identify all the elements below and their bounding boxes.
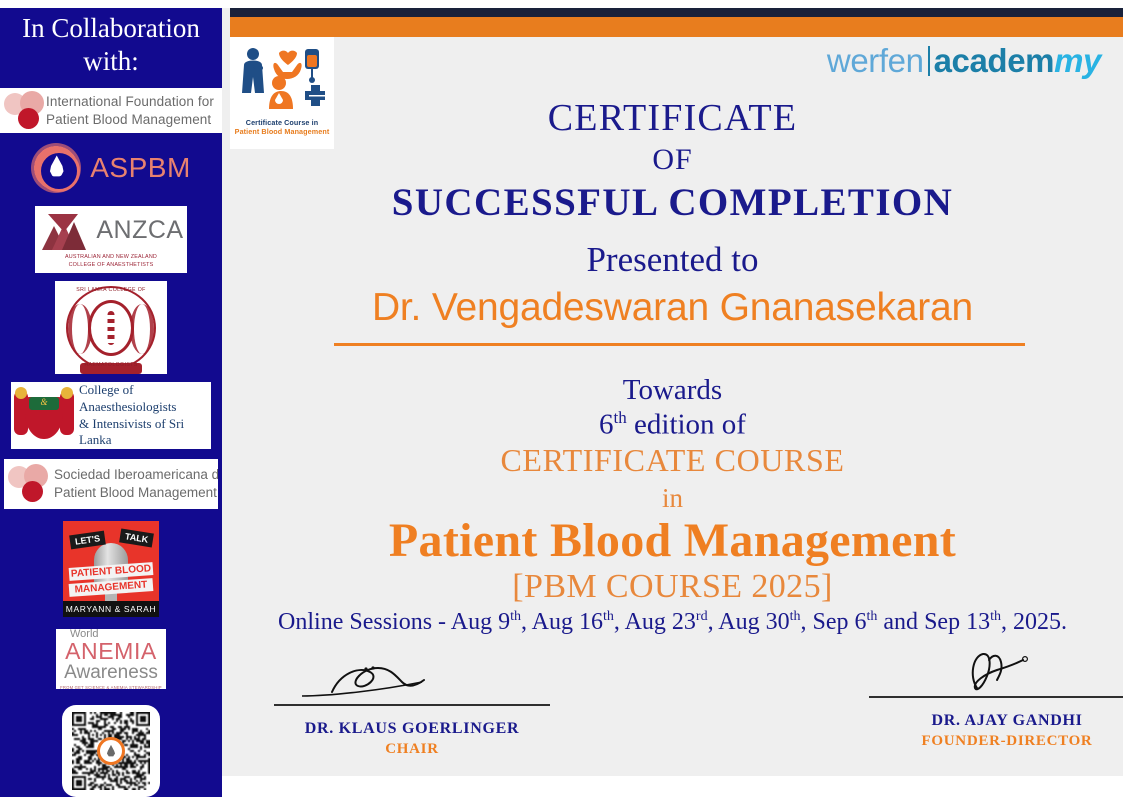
session-date: Sep 6th: [813, 609, 878, 635]
session-date: Aug 9th: [451, 609, 521, 635]
signature-rule: [869, 696, 1123, 698]
edition-number: 6: [599, 409, 614, 441]
edition-rest: edition of: [627, 409, 746, 441]
logo-sociedad-iberoamericana-pbm: Sociedad Iberoamericana de Patient Blood…: [4, 459, 218, 508]
collaboration-heading: In Collaboration with:: [6, 12, 216, 78]
sipbm-dots-icon: [8, 464, 50, 504]
in-label: in: [222, 483, 1123, 514]
logo-lets-talk-pbm-podcast: LET'S TALK PATIENT BLOOD MANAGEMENT MARY…: [63, 521, 159, 617]
session-date: Sep 13th: [924, 609, 1001, 635]
course-bracket-label: [PBM COURSE 2025]: [222, 568, 1123, 606]
haematologists-crest-icon: SRI LANKA COLLEGE OF HAEMATOLOGISTS: [62, 282, 160, 374]
certificate-page: In Collaboration with: International Fou…: [0, 0, 1123, 797]
logo-college-anaesthesiologists-sri-lanka: & College of Anaesthesiologists & Intens…: [11, 382, 211, 450]
logo-sri-lanka-college-haematologists: SRI LANKA COLLEGE OF HAEMATOLOGISTS: [55, 281, 167, 373]
aspbm-blood-drop-icon: [31, 143, 81, 193]
sipbm-text: Sociedad Iberoamericana de Patient Blood…: [54, 466, 218, 502]
certificate-course-line: CERTIFICATE COURSE: [222, 442, 1123, 479]
collaborators-sidebar: In Collaboration with: International Fou…: [0, 8, 222, 797]
course-title: Patient Blood Management: [222, 513, 1123, 568]
anzca-subtitle: AUSTRALIAN AND NEW ZEALAND COLLEGE OF AN…: [65, 254, 157, 269]
anzca-wordmark: ANZCA: [96, 216, 183, 245]
logo-anzca: ANZCA AUSTRALIAN AND NEW ZEALAND COLLEGE…: [35, 206, 187, 274]
title-of: OF: [222, 143, 1123, 177]
casl-text: College of Anaesthesiologists & Intensiv…: [79, 382, 211, 449]
session-date: Aug 16th: [532, 609, 614, 635]
top-navy-band: [230, 8, 1123, 17]
podcast-band-1: PATIENT BLOOD: [69, 562, 154, 581]
top-orange-band: [230, 17, 1123, 37]
title-certificate: CERTIFICATE: [222, 96, 1123, 140]
awareness-label: Awareness: [64, 663, 158, 683]
recipient-name-underline: [334, 343, 1025, 346]
anemia-label: ANEMIA: [65, 640, 157, 663]
academy-wordmark: academ: [934, 42, 1055, 80]
signature-role: FOUNDER-DIRECTOR: [857, 733, 1123, 750]
certificate-body: Certificate Course in Patient Blood Mana…: [222, 8, 1123, 776]
ifpbm-dots-icon: [4, 91, 46, 131]
logo-international-foundation-pbm: International Foundation for Patient Blo…: [0, 88, 222, 133]
signature-rule: [274, 704, 550, 706]
ifpbm-text: International Foundation for Patient Blo…: [46, 93, 214, 129]
podcast-band-2: MANAGEMENT: [69, 578, 154, 597]
presented-to-label: Presented to: [222, 240, 1123, 280]
title-successful-completion: SUCCESSFUL COMPLETION: [222, 180, 1123, 225]
signature-klaus-goerlinger-icon: [262, 656, 562, 702]
anzca-triangles-icon: [38, 210, 90, 252]
edition-suffix: th: [614, 408, 627, 427]
academy-script-my: my: [1054, 42, 1101, 80]
werfen-divider: [928, 46, 930, 76]
signature-ajay-gandhi-icon: [857, 648, 1123, 694]
casl-crest-icon: &: [15, 385, 73, 447]
podcast-hosts: MARYANN & SARAH: [63, 601, 159, 617]
aspbm-wordmark: ASPBM: [90, 152, 191, 184]
lets-talk-artwork: LET'S TALK PATIENT BLOOD MANAGEMENT: [63, 521, 159, 601]
talk-label: TALK: [119, 528, 154, 547]
werfen-wordmark: werfen: [827, 42, 924, 80]
recipient-name: Dr. Vengadeswaran Gnanasekaran: [222, 286, 1123, 330]
signature-block-founder: DR. AJAY GANDHI FOUNDER-DIRECTOR: [857, 648, 1123, 750]
signature-block-chair: DR. KLAUS GOERLINGER CHAIR: [262, 656, 562, 758]
signature-name: DR. KLAUS GOERLINGER: [262, 720, 562, 738]
werfen-academy-logo: werfen academ my: [827, 42, 1101, 80]
session-date: Aug 30th: [718, 609, 800, 635]
edition-line: 6th edition of: [222, 408, 1123, 442]
qr-center-drop-icon: [97, 737, 125, 765]
towards-label: Towards: [222, 374, 1123, 407]
signature-name: DR. AJAY GANDHI: [857, 712, 1123, 730]
signature-role: CHAIR: [262, 741, 562, 758]
qr-code[interactable]: [62, 705, 160, 797]
logo-world-anemia-awareness: World ANEMIA Awareness FROM GET SCIENCE …: [56, 629, 166, 689]
anemia-subtitle: FROM GET SCIENCE & ANEMIA STEWARDSHIP: [60, 685, 162, 689]
session-dates-line: Online Sessions - Aug 9th, Aug 16th, Aug…: [222, 609, 1123, 636]
session-date: Aug 23rd: [625, 609, 708, 635]
logo-aspbm: ASPBM: [0, 139, 222, 197]
